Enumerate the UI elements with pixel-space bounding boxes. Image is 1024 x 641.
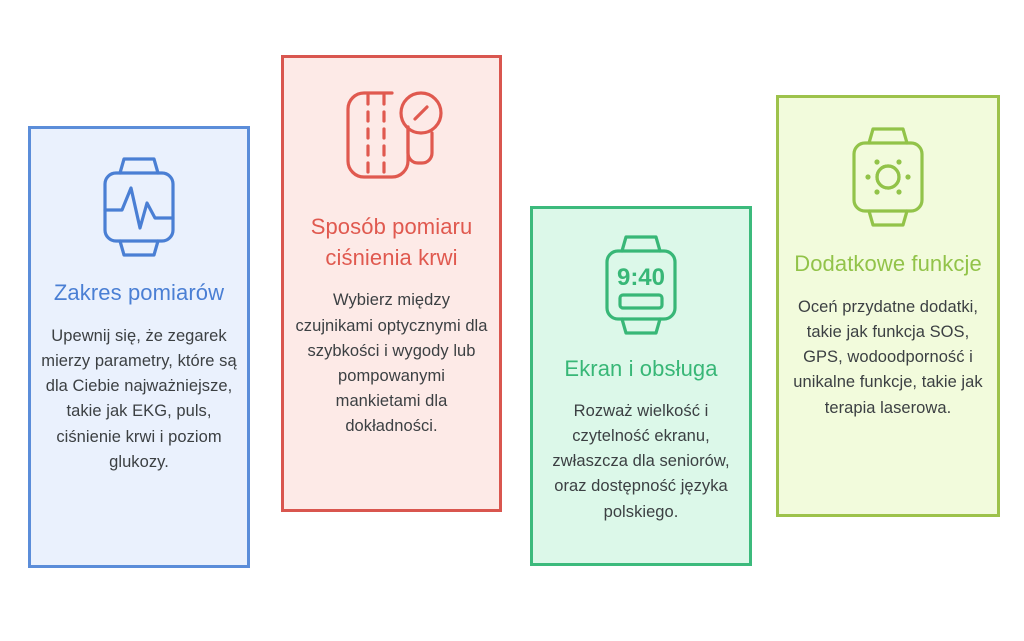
card-blood-pressure-method[interactable]: Sposób pomiaru ciśnienia krwi Wybierz mi… [281, 55, 502, 512]
card-body: Oceń przydatne dodatki, takie jak funkcj… [779, 295, 997, 420]
smartwatch-sensor-icon [779, 124, 997, 230]
card-extra-features[interactable]: Dodatkowe funkcje Oceń przydatne dodatki… [776, 95, 1000, 517]
card-body: Wybierz między czujnikami optycznymi dla… [284, 288, 499, 438]
infographic-board: Zakres pomiarów Upewnij się, że zegarek … [0, 0, 1024, 641]
card-title: Dodatkowe funkcje [788, 248, 988, 279]
card-body: Upewnij się, że zegarek mierzy parametry… [31, 324, 247, 474]
card-measurement-range[interactable]: Zakres pomiarów Upewnij się, że zegarek … [28, 126, 250, 568]
card-title: Ekran i obsługa [558, 353, 723, 384]
card-title: Sposób pomiaru ciśnienia krwi [284, 211, 499, 273]
blood-pressure-cuff-icon [284, 85, 499, 193]
card-title: Zakres pomiarów [48, 277, 230, 308]
card-body: Rozważ wielkość i czytelność ekranu, zwł… [533, 399, 749, 524]
watch-time-label: 9:40 [617, 264, 665, 291]
smartwatch-clock-face-icon: 9:40 [533, 233, 749, 337]
card-screen-usability[interactable]: 9:40 Ekran i obsługa Rozważ wielkość i c… [530, 206, 752, 566]
smartwatch-ecg-icon [31, 155, 247, 259]
